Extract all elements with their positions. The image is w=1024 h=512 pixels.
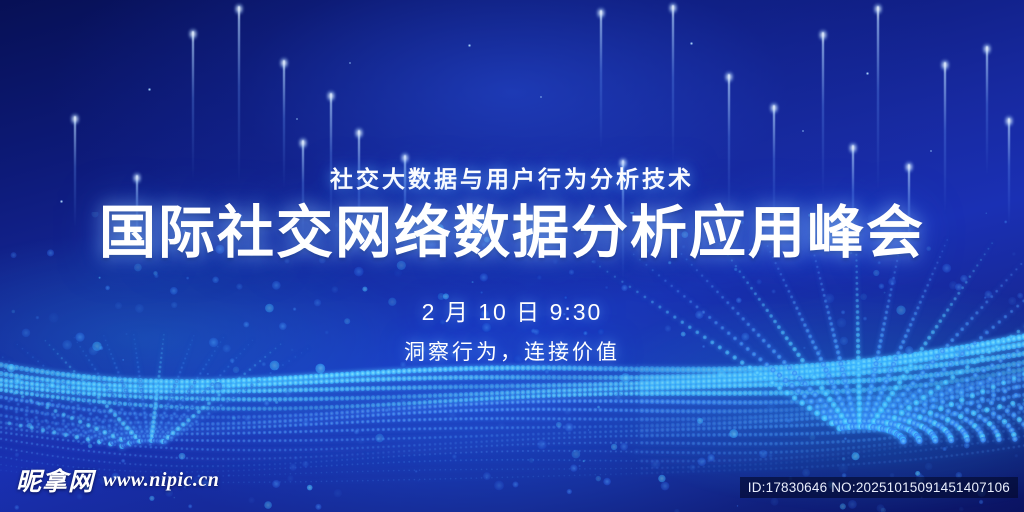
watermark: 昵拿网 www.nipic.cn: [16, 462, 219, 498]
sparkle-dot-icon: [468, 44, 471, 47]
poster-datetime: 2 月 10 日 9:30: [0, 293, 1024, 327]
sparkle-dot-icon: [690, 42, 693, 45]
poster-subtitle: 社交大数据与用户行为分析技术: [0, 160, 1024, 194]
poster-title: 国际社交网络数据分析应用峰会: [0, 200, 1024, 267]
sparkle-dot-icon: [930, 150, 932, 152]
light-beam-icon: [986, 46, 988, 176]
event-poster: 社交大数据与用户行为分析技术 国际社交网络数据分析应用峰会 2 月 10 日 9…: [0, 0, 1024, 512]
sparkle-dot-icon: [866, 72, 869, 75]
sparkle-dot-icon: [148, 88, 151, 91]
watermark-url: www.nipic.cn: [103, 469, 219, 492]
sparkle-dot-icon: [802, 130, 804, 132]
sparkle-dot-icon: [349, 62, 351, 64]
light-beam-icon: [238, 6, 240, 184]
light-beam-icon: [600, 10, 602, 150]
sparkle-dot-icon: [540, 96, 542, 98]
light-beam-icon: [672, 5, 674, 165]
asset-id-label: ID:17830646 NO:20251015091451407106: [740, 477, 1018, 498]
poster-tagline: 洞察行为，连接价值: [0, 336, 1024, 366]
sparkle-dot-icon: [296, 118, 298, 120]
light-beam-icon: [192, 31, 194, 181]
nipic-logo-icon: 昵拿网: [16, 462, 94, 498]
